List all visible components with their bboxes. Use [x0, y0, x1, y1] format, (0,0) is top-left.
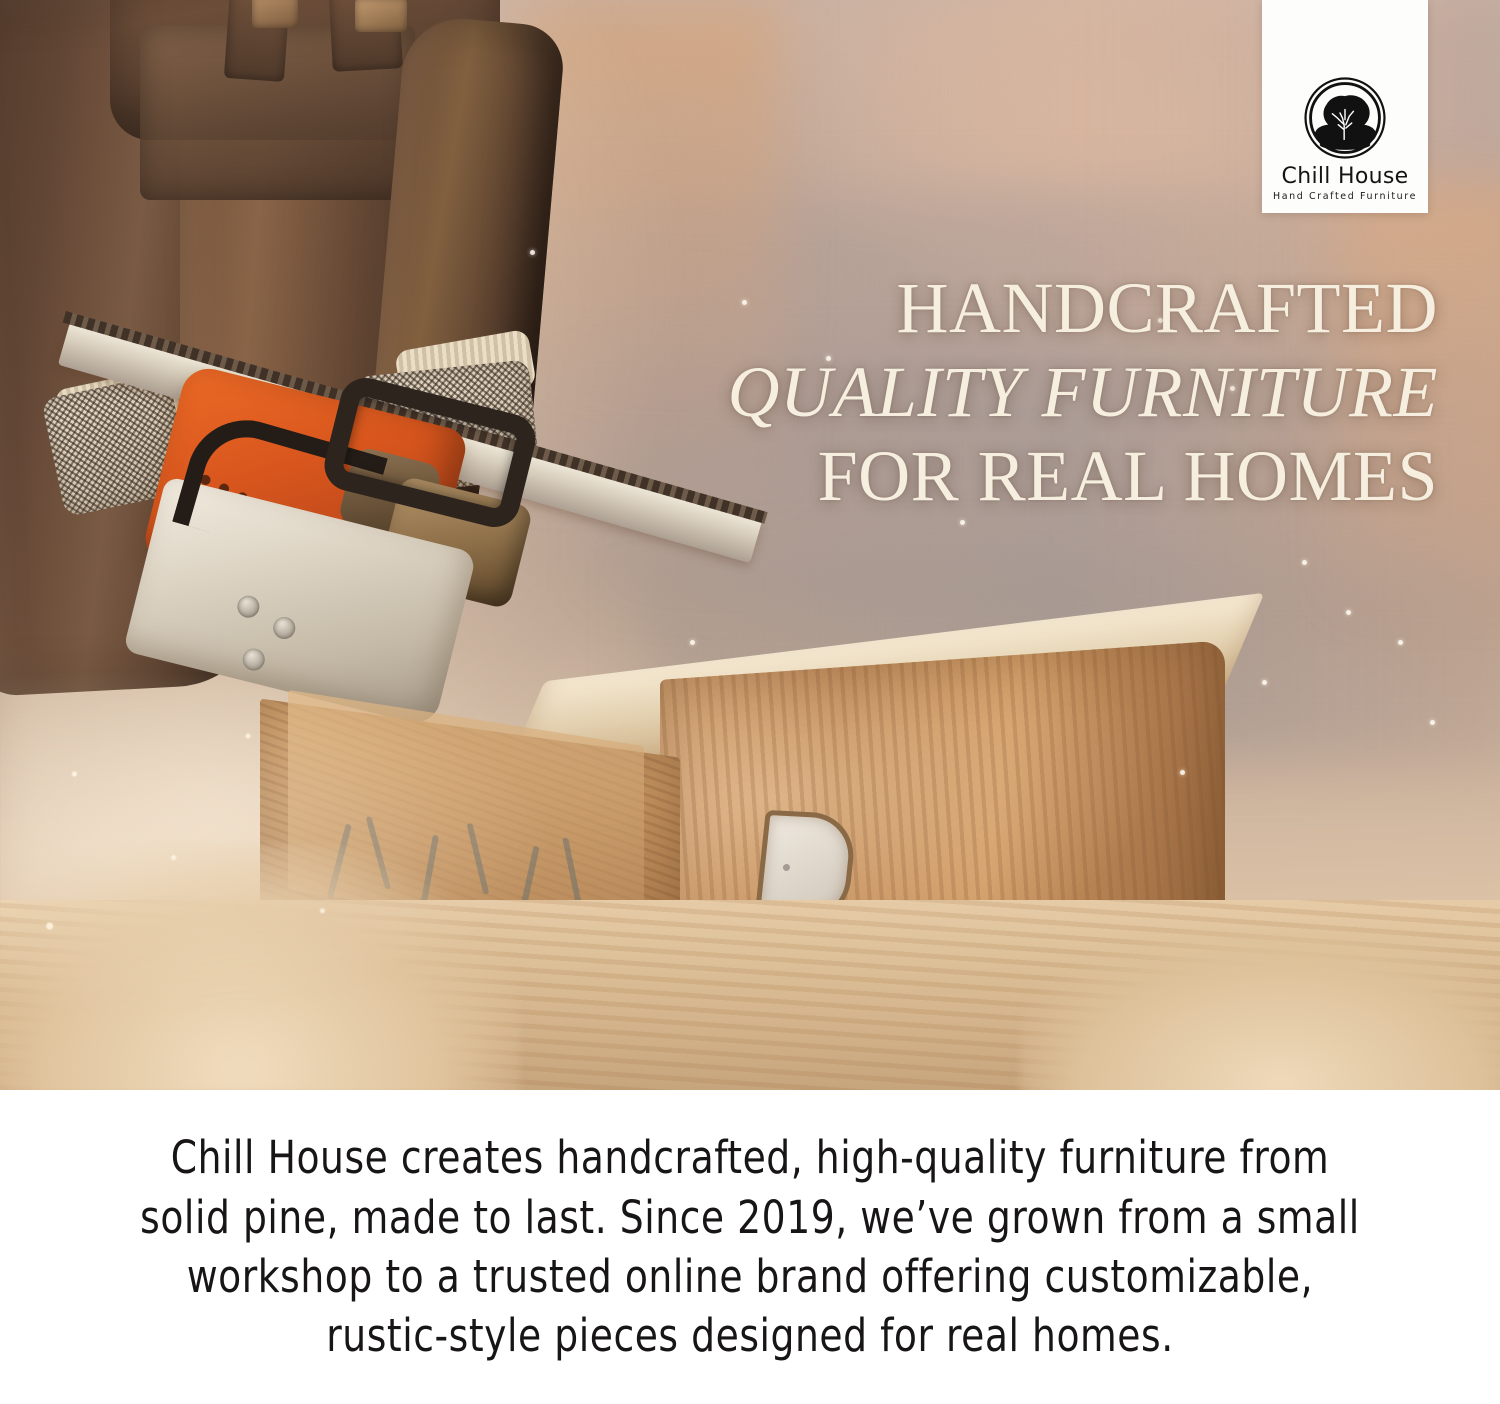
tree-in-circle-icon: [1303, 76, 1387, 160]
brand-description-text: Chill House creates handcrafted, high-qu…: [132, 1128, 1369, 1366]
chainsaw-bolt: [235, 593, 262, 620]
hero-headline: HANDCRAFTED QUALITY FURNITURE FOR REAL H…: [598, 272, 1438, 512]
brand-logo-card: Chill House Hand Crafted Furniture: [1262, 0, 1428, 213]
brand-name: Chill House: [1282, 166, 1409, 188]
headline-line-3: FOR REAL HOMES: [598, 440, 1438, 512]
sawdust-spray: [0, 660, 620, 1040]
hero-photo: HANDCRAFTED QUALITY FURNITURE FOR REAL H…: [0, 0, 1500, 1090]
headline-line-2: QUALITY FURNITURE: [598, 356, 1438, 428]
sawdust-mound-right: [1020, 930, 1500, 1090]
brand-tagline: Hand Crafted Furniture: [1273, 192, 1417, 202]
brand-description-section: Chill House creates handcrafted, high-qu…: [0, 1090, 1500, 1404]
headline-line-1: HANDCRAFTED: [598, 272, 1438, 344]
product-lifestyle-banner: HANDCRAFTED QUALITY FURNITURE FOR REAL H…: [0, 0, 1500, 1404]
chainsaw-bolt: [271, 615, 298, 642]
